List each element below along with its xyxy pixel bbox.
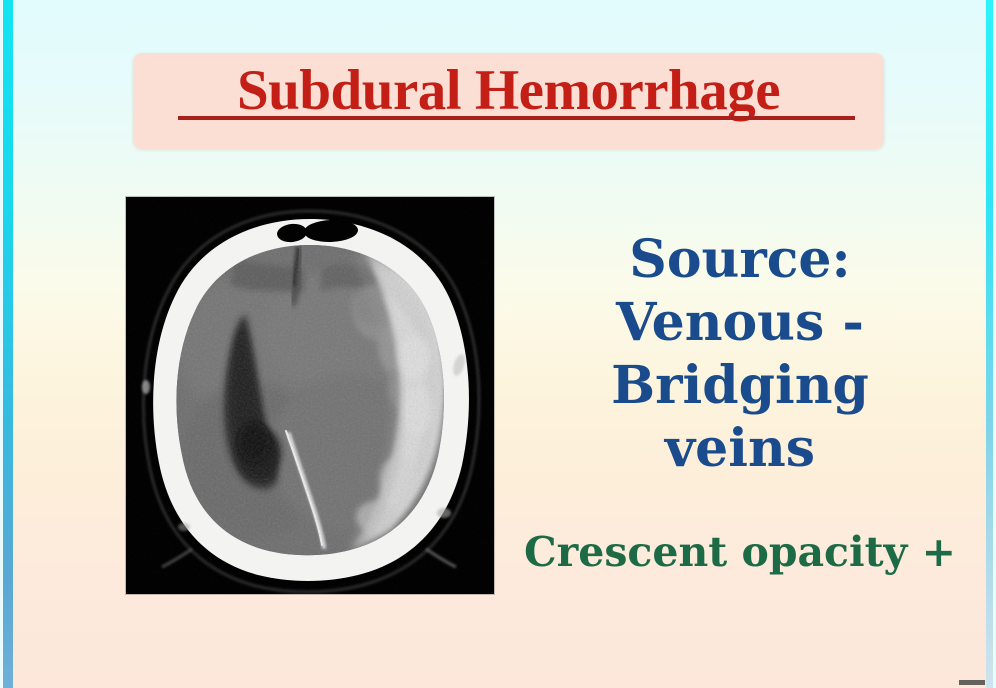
source-line-2: Venous - <box>505 291 975 354</box>
head-ct-image <box>126 197 494 594</box>
crescent-opacity-note: Crescent opacity + <box>505 526 975 578</box>
ct-scan-graphic <box>126 197 494 594</box>
corner-artifact-mark <box>959 680 985 685</box>
title-plate: Subdural Hemorrhage <box>133 53 884 149</box>
title-underline <box>178 116 855 120</box>
source-line-1: Source: <box>505 228 975 291</box>
left-cyan-stripe <box>3 0 13 688</box>
source-line-4: veins <box>505 417 975 480</box>
right-cyan-stripe <box>986 0 993 688</box>
source-line-3: Bridging <box>505 354 975 417</box>
slide-canvas: Subdural Hemorrhage <box>0 0 996 688</box>
source-text-block: Source: Venous - Bridging veins <box>505 228 975 480</box>
